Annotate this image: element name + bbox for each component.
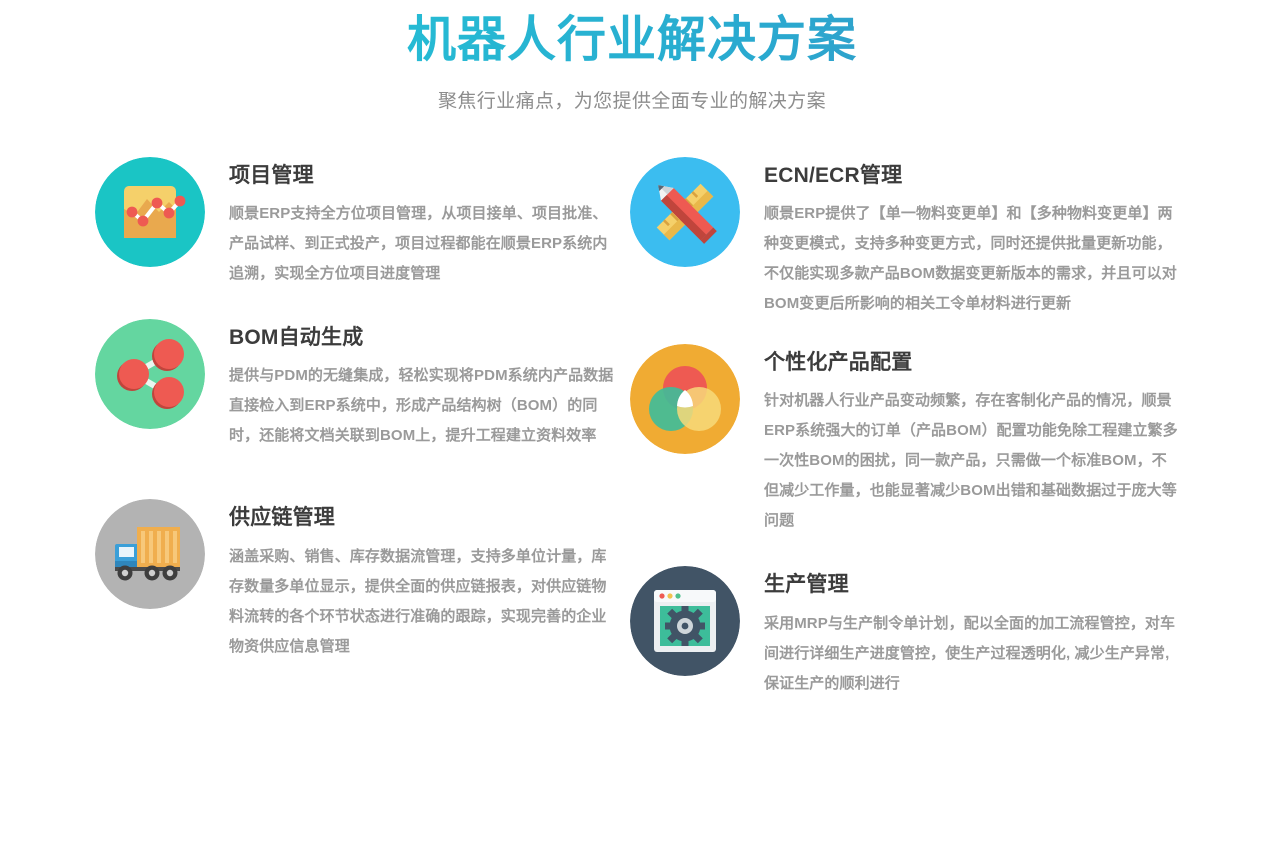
share-network-icon (95, 319, 205, 429)
feature-card-bom-auto-generation[interactable]: BOM自动生成 提供与PDM的无缝集成，轻松实现将PDM系统内产品数据直接检入到… (95, 319, 630, 451)
feature-description: 提供与PDM的无缝集成，轻松实现将PDM系统内产品数据直接检入到ERP系统中，形… (229, 361, 621, 451)
venn-diagram-icon (630, 344, 740, 454)
feature-icon-wrapper (95, 499, 205, 609)
feature-title: BOM自动生成 (229, 325, 621, 351)
feature-card-production-management[interactable]: 生产管理 采用MRP与生产制令单计划，配以全面的加工流程管控，对车间进行详细生产… (630, 566, 1179, 698)
solutions-page: 机器人行业解决方案 聚焦行业痛点，为您提供全面专业的解决方案 (0, 0, 1264, 860)
feature-icon-wrapper (630, 566, 740, 676)
feature-description: 针对机器人行业产品变动频繁，存在客制化产品的情况，顺景ERP系统强大的订单（产品… (764, 386, 1179, 536)
pencil-ruler-icon (630, 157, 740, 267)
feature-body: 生产管理 采用MRP与生产制令单计划，配以全面的加工流程管控，对车间进行详细生产… (764, 566, 1179, 698)
feature-title: 个性化产品配置 (764, 350, 1179, 376)
feature-icon-wrapper (95, 319, 205, 429)
feature-icon-wrapper (95, 157, 205, 267)
page-subtitle: 聚焦行业痛点，为您提供全面专业的解决方案 (0, 86, 1264, 113)
feature-title: 供应链管理 (229, 505, 621, 531)
page-header: 机器人行业解决方案 聚焦行业痛点，为您提供全面专业的解决方案 (0, 0, 1264, 113)
feature-body: ECN/ECR管理 顺景ERP提供了【单一物料变更单】和【多种物料变更单】两种变… (764, 157, 1179, 319)
feature-card-supply-chain-management[interactable]: 供应链管理 涵盖采购、销售、库存数据流管理，支持多单位计量，库存数量多单位显示，… (95, 499, 630, 661)
feature-body: 项目管理 顺景ERP支持全方位项目管理，从项目接单、项目批准、产品试样、到正式投… (229, 157, 621, 289)
feature-description: 顺景ERP提供了【单一物料变更单】和【多种物料变更单】两种变更模式，支持多种变更… (764, 199, 1179, 319)
feature-body: 供应链管理 涵盖采购、销售、库存数据流管理，支持多单位计量，库存数量多单位显示，… (229, 499, 621, 661)
feature-card-project-management[interactable]: 项目管理 顺景ERP支持全方位项目管理，从项目接单、项目批准、产品试样、到正式投… (95, 157, 630, 289)
feature-description: 涵盖采购、销售、库存数据流管理，支持多单位计量，库存数量多单位显示，提供全面的供… (229, 542, 621, 662)
feature-title: ECN/ECR管理 (764, 163, 1179, 189)
feature-body: BOM自动生成 提供与PDM的无缝集成，轻松实现将PDM系统内产品数据直接检入到… (229, 319, 621, 451)
delivery-truck-icon (95, 499, 205, 609)
feature-card-personalized-product-configuration[interactable]: 个性化产品配置 针对机器人行业产品变动频繁，存在客制化产品的情况，顺景ERP系统… (630, 344, 1179, 536)
feature-title: 生产管理 (764, 572, 1179, 598)
chart-analytics-icon (95, 157, 205, 267)
feature-card-ecn-ecr-management[interactable]: ECN/ECR管理 顺景ERP提供了【单一物料变更单】和【多种物料变更单】两种变… (630, 157, 1179, 319)
feature-icon-wrapper (630, 344, 740, 454)
feature-icon-wrapper (630, 157, 740, 267)
browser-gear-icon (630, 566, 740, 676)
feature-description: 采用MRP与生产制令单计划，配以全面的加工流程管控，对车间进行详细生产进度管控，… (764, 609, 1179, 699)
feature-column-left: 项目管理 顺景ERP支持全方位项目管理，从项目接单、项目批准、产品试样、到正式投… (95, 157, 630, 737)
feature-description: 顺景ERP支持全方位项目管理，从项目接单、项目批准、产品试样、到正式投产，项目过… (229, 199, 621, 289)
page-title: 机器人行业解决方案 (0, 12, 1264, 70)
feature-column-right: ECN/ECR管理 顺景ERP提供了【单一物料变更单】和【多种物料变更单】两种变… (630, 157, 1179, 737)
feature-body: 个性化产品配置 针对机器人行业产品变动频繁，存在客制化产品的情况，顺景ERP系统… (764, 344, 1179, 536)
feature-grid: 项目管理 顺景ERP支持全方位项目管理，从项目接单、项目批准、产品试样、到正式投… (0, 157, 1264, 737)
feature-title: 项目管理 (229, 163, 621, 189)
